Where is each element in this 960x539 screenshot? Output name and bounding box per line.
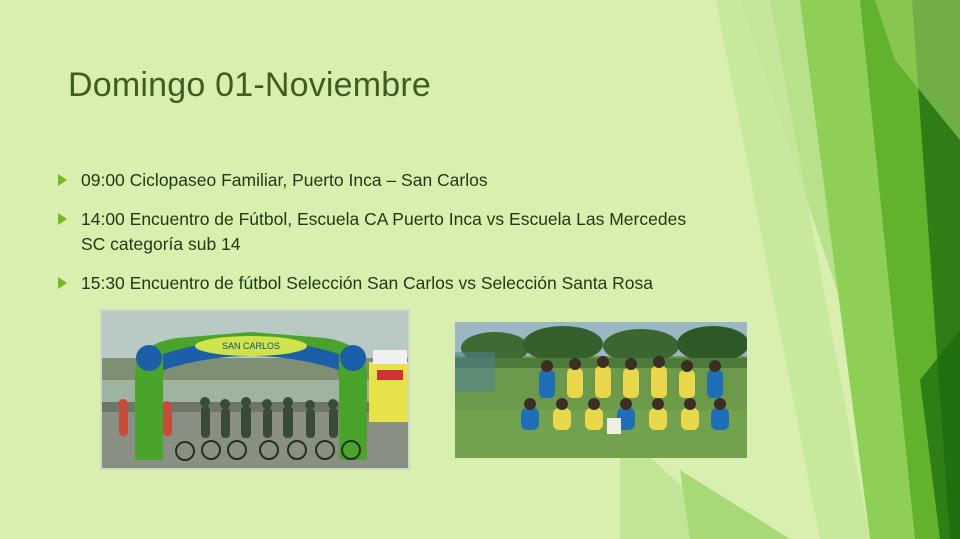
triangle-right-icon <box>58 174 67 186</box>
list-item-label: 09:00 Ciclopaseo Familiar, Puerto Inca –… <box>81 168 488 193</box>
triangle-right-icon <box>58 277 67 289</box>
list-item: 15:30 Encuentro de fútbol Selección San … <box>58 271 698 296</box>
photo-ciclopaseo-start-arch: SAN CARLOS <box>100 309 410 470</box>
list-item: 14:00 Encuentro de Fútbol, Escuela CA Pu… <box>58 207 698 257</box>
slide: Domingo 01-Noviembre 09:00 Ciclopaseo Fa… <box>0 0 960 539</box>
svg-text:SAN CARLOS: SAN CARLOS <box>222 341 280 351</box>
triangle-right-icon <box>58 213 67 225</box>
list-item-label: 15:30 Encuentro de fútbol Selección San … <box>81 271 653 296</box>
photo-football-team-group <box>455 322 747 458</box>
list-item: 09:00 Ciclopaseo Familiar, Puerto Inca –… <box>58 168 698 193</box>
page-title: Domingo 01-Noviembre <box>68 66 431 105</box>
list-item-label: 14:00 Encuentro de Fútbol, Escuela CA Pu… <box>81 207 698 257</box>
bullet-list: 09:00 Ciclopaseo Familiar, Puerto Inca –… <box>58 168 698 309</box>
